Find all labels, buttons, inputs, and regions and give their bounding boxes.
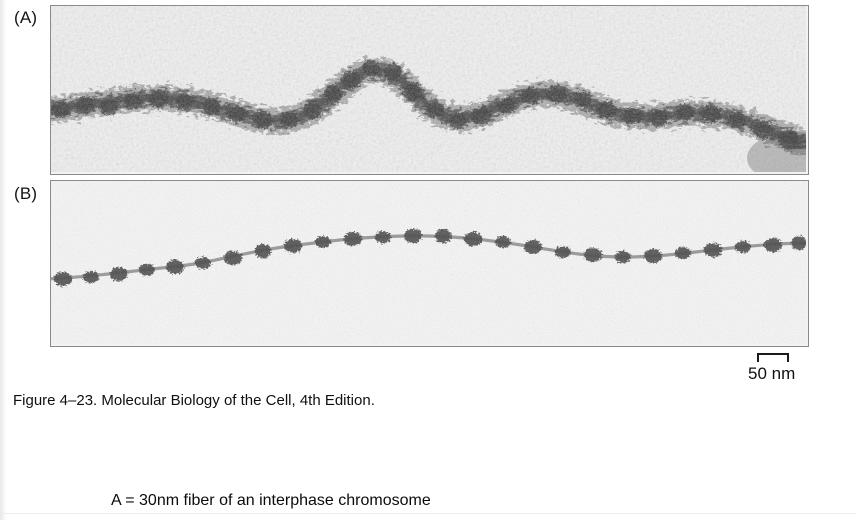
bottom-hairline (0, 513, 856, 514)
figure-caption: Figure 4–23. Molecular Biology of the Ce… (13, 391, 375, 410)
left-edge-strip (0, 0, 6, 520)
panel-b-label: (B) (14, 185, 37, 202)
micrograph-panel-b (50, 180, 809, 347)
scale-bar-label: 50 nm (745, 364, 840, 384)
scale-bar: 50 nm (745, 351, 840, 386)
panel-a-image (51, 6, 806, 172)
panel-a-label: (A) (14, 9, 37, 26)
legend-block: A = 30nm fiber of an interphase chromoso… (111, 443, 431, 520)
legend-line-a: A = 30nm fiber of an interphase chromoso… (111, 489, 431, 512)
micrograph-panel-a (50, 5, 809, 175)
scale-bracket-icon (757, 353, 789, 362)
slide-canvas: (A) (0, 0, 856, 520)
panel-b-image (51, 181, 806, 344)
